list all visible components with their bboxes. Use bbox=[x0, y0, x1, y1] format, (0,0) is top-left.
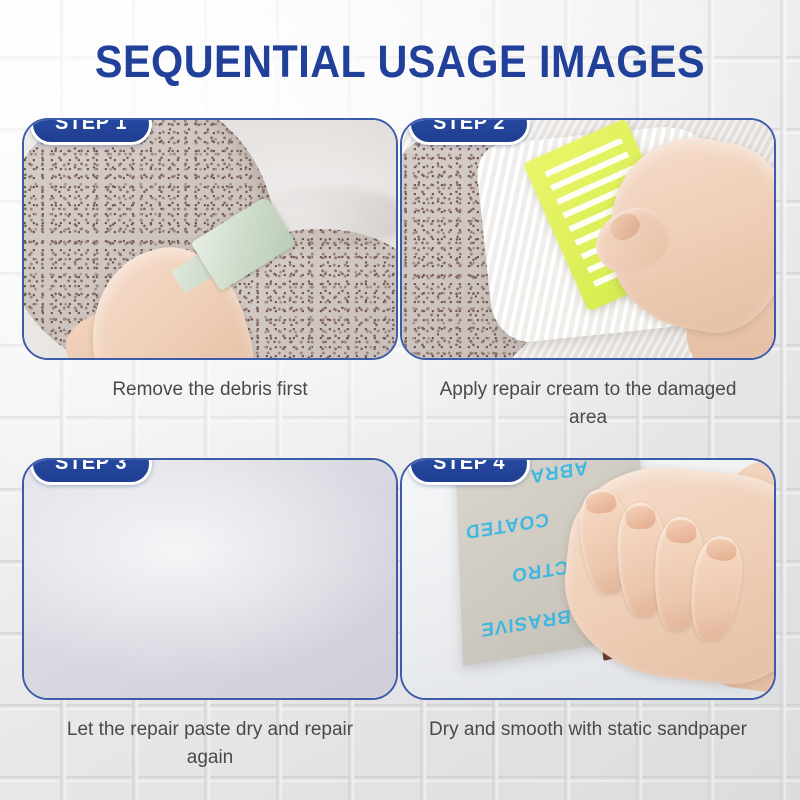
steps-row-2: STEP 3 Let the repair paste dry and repa… bbox=[0, 458, 800, 798]
step-card-3[interactable]: STEP 3 Let the repair paste dry and repa… bbox=[22, 458, 398, 772]
fingernail bbox=[625, 506, 656, 530]
page-title: SEQUENTIAL USAGE IMAGES bbox=[32, 36, 768, 88]
sandpaper-photo: ABRA COATED ELECTRO ABRASIVE bbox=[402, 460, 774, 698]
step-card-2[interactable]: STEP 2 Apply repair cream to the damaged… bbox=[400, 118, 776, 432]
step-3-badge: STEP 3 bbox=[30, 458, 152, 485]
sandpaper-print-line-2: COATED bbox=[465, 507, 550, 542]
step-2-image-panel[interactable]: STEP 2 bbox=[400, 118, 776, 360]
step-card-1[interactable]: STEP 1 Remove the debris first bbox=[22, 118, 398, 404]
repair-cream-photo bbox=[402, 120, 774, 358]
step-2-badge: STEP 2 bbox=[408, 118, 530, 145]
step-1-badge: STEP 1 bbox=[30, 118, 152, 145]
step-2-caption: Apply repair cream to the damaged area bbox=[400, 376, 776, 432]
fingernail bbox=[666, 520, 697, 544]
step-3-caption: Let the repair paste dry and repair agai… bbox=[22, 716, 398, 772]
steps-grid: STEP 1 Remove the debris first bbox=[0, 118, 800, 798]
sandpaper-print-line-1: ABRA bbox=[529, 458, 588, 487]
step-1-caption: Remove the debris first bbox=[22, 376, 398, 404]
infographic-page: SEQUENTIAL USAGE IMAGES STEP 1 bbox=[0, 0, 800, 800]
fingernail bbox=[705, 538, 738, 563]
damaged-wall-photo bbox=[24, 120, 396, 358]
step-4-image-panel[interactable]: ABRA COATED ELECTRO ABRASIVE STEP 4 bbox=[400, 458, 776, 700]
steps-row-1: STEP 1 Remove the debris first bbox=[0, 118, 800, 458]
step-4-badge: STEP 4 bbox=[408, 458, 530, 485]
fingernail bbox=[585, 490, 617, 514]
step-card-4[interactable]: ABRA COATED ELECTRO ABRASIVE STEP 4 bbox=[400, 458, 776, 744]
step-1-image-panel[interactable]: STEP 1 bbox=[22, 118, 398, 360]
step-4-caption: Dry and smooth with static sandpaper bbox=[400, 716, 776, 744]
step-3-image-panel[interactable]: STEP 3 bbox=[22, 458, 398, 700]
smooth-dried-wall-photo bbox=[24, 460, 396, 698]
